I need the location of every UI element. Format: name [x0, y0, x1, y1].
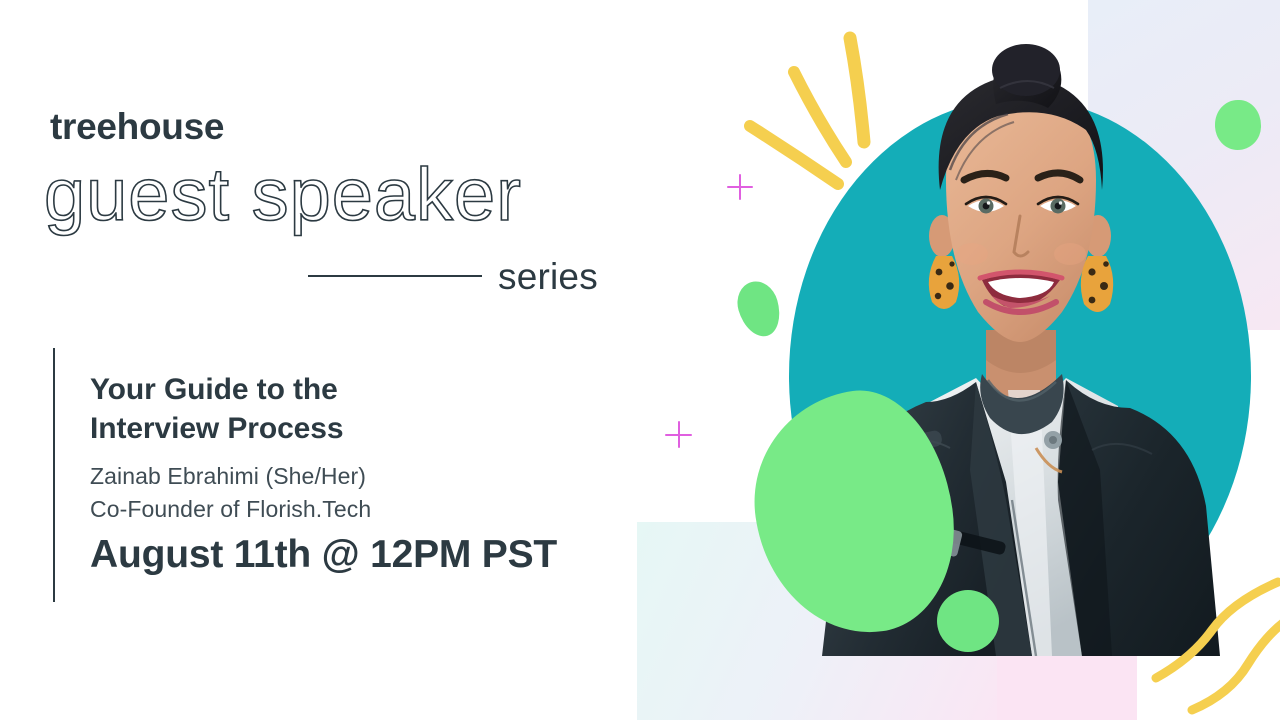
series-row: series — [308, 252, 624, 300]
talk-title: Your Guide to the Interview Process — [90, 370, 560, 448]
yellow-burst-strokes — [742, 28, 912, 218]
series-label: series — [498, 258, 598, 295]
magenta-plus-icon-lower — [665, 421, 692, 448]
green-dot-bottom — [937, 590, 999, 652]
left-vertical-rule — [53, 348, 55, 602]
event-datetime: August 11th @ 12PM PST — [90, 535, 650, 574]
green-bean-small — [732, 277, 786, 342]
series-divider-rule — [308, 275, 482, 277]
promo-graphic: treehouse guest speaker series Your Guid… — [0, 0, 1280, 720]
speaker-block: Zainab Ebrahimi (She/Her) Co-Founder of … — [90, 460, 560, 525]
speaker-name: Zainab Ebrahimi (She/Her) — [90, 460, 560, 493]
speaker-role: Co-Founder of Florish.Tech — [90, 493, 560, 526]
talk-title-line-1: Your Guide to the — [90, 370, 560, 409]
brand-wordmark: treehouse — [50, 108, 224, 145]
headline-guest-speaker: guest speaker — [44, 158, 522, 232]
magenta-plus-icon-upper — [727, 174, 753, 200]
talk-title-line-2: Interview Process — [90, 409, 560, 448]
yellow-squiggle-lines — [1150, 560, 1280, 720]
green-dot-top-right — [1215, 100, 1261, 150]
